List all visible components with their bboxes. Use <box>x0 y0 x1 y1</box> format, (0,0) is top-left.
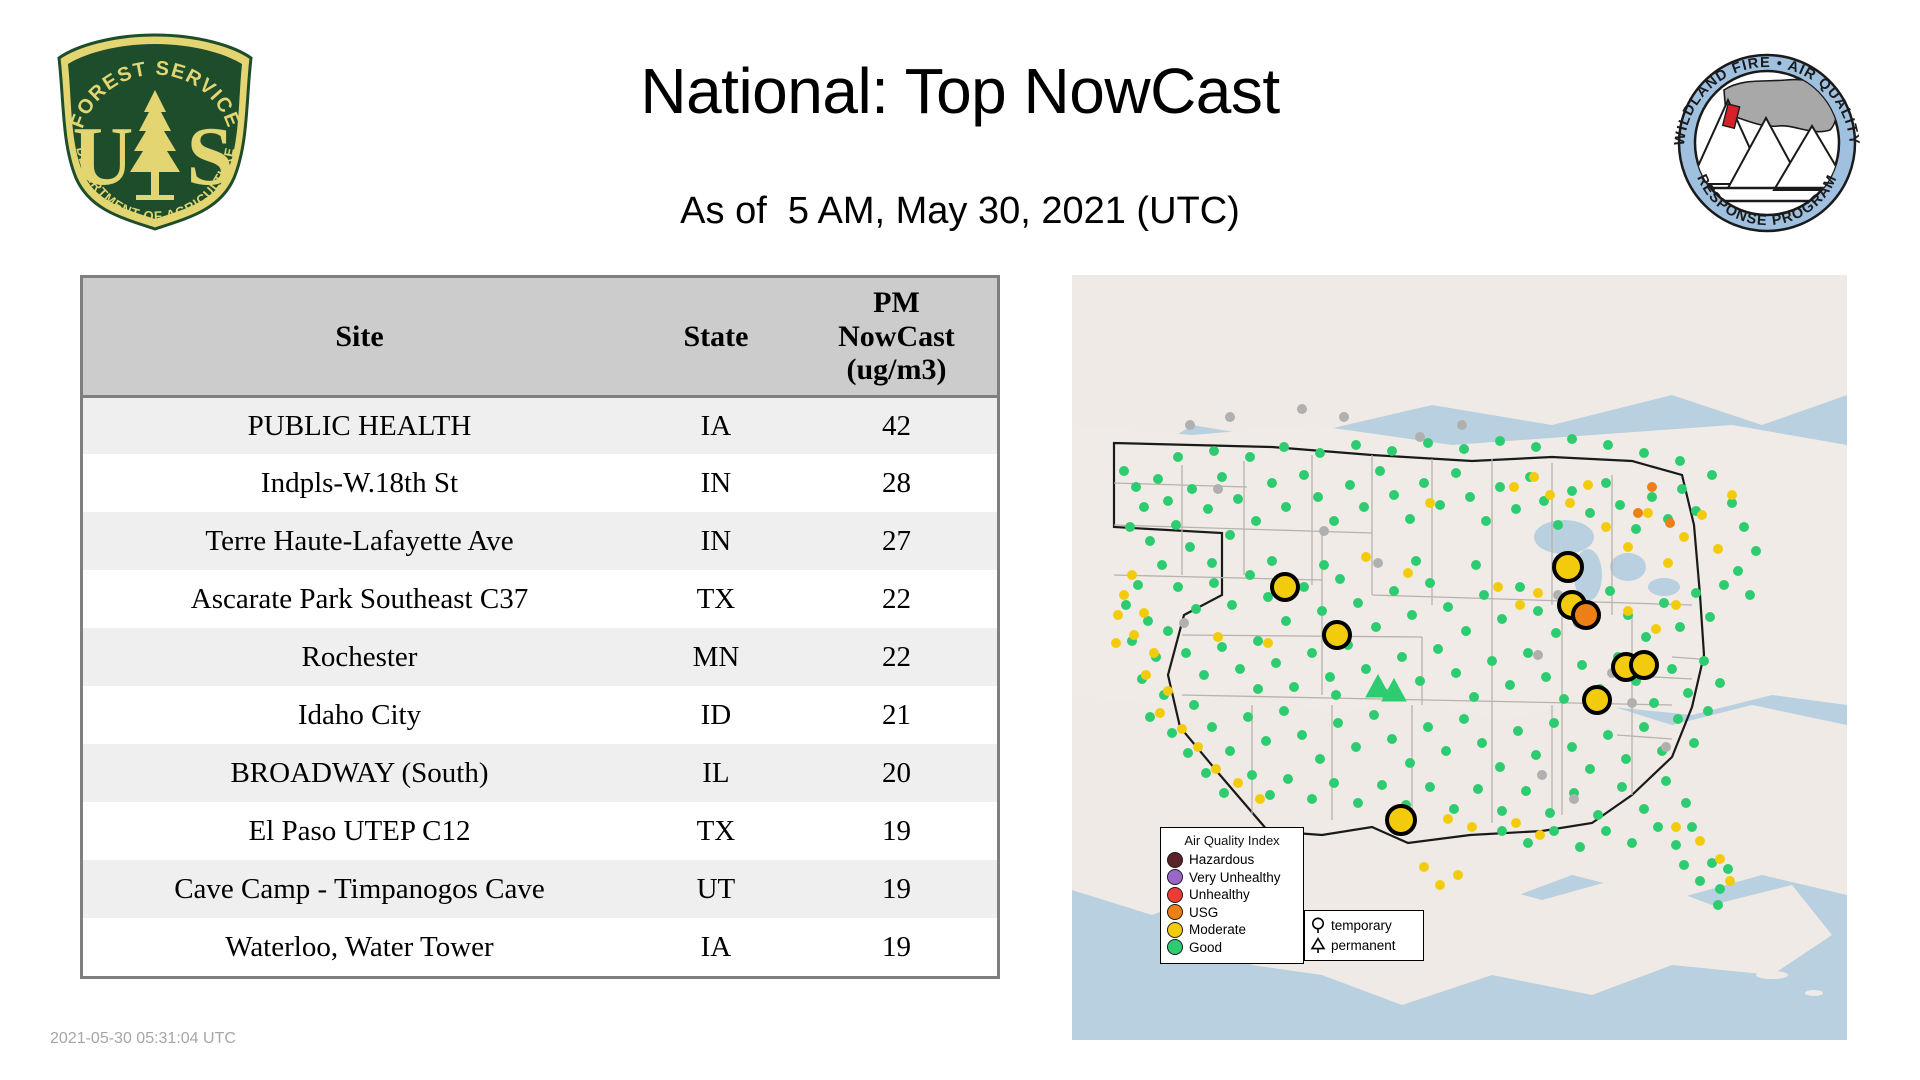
aqi-legend-label: Moderate <box>1189 923 1246 937</box>
symbol-legend-label-temporary: temporary <box>1331 918 1392 933</box>
top-site-marker-el-paso[interactable] <box>1387 806 1415 834</box>
table-row: BROADWAY (South)IL20 <box>83 744 997 802</box>
page-title: National: Top NowCast <box>420 54 1500 128</box>
aqi-swatch-icon <box>1167 852 1183 868</box>
site-cell: Cave Camp - Timpanogos Cave <box>83 860 636 918</box>
aqi-swatch-icon <box>1167 939 1183 955</box>
aqi-legend-rows: HazardousVery UnhealthyUnhealthyUSGModer… <box>1167 851 1297 956</box>
wfaqrp-logo: WILDLAND FIRE • AIR QUALITY RESPONSE PRO… <box>1662 38 1872 248</box>
aqi-legend-row-very-unhealthy: Very Unhealthy <box>1167 869 1297 887</box>
pm-nowcast-cell: 27 <box>796 512 997 570</box>
table-body: PUBLIC HEALTHIA42Indpls-W.18th StIN28Ter… <box>83 396 997 976</box>
pm-nowcast-cell: 19 <box>796 918 997 976</box>
site-cell: El Paso UTEP C12 <box>83 802 636 860</box>
site-cell: Indpls-W.18th St <box>83 454 636 512</box>
page-subtitle: As of 5 AM, May 30, 2021 (UTC) <box>420 190 1500 233</box>
aqi-legend-label: Good <box>1189 941 1222 955</box>
aqi-legend-row-unhealthy: Unhealthy <box>1167 886 1297 904</box>
pm-nowcast-cell: 20 <box>796 744 997 802</box>
state-cell: IN <box>636 512 796 570</box>
aqi-swatch-icon <box>1167 869 1183 885</box>
state-cell: IN <box>636 454 796 512</box>
symbol-legend-row-temporary: temporary <box>1310 915 1418 935</box>
column-header-site: Site <box>83 278 636 396</box>
site-cell: Waterloo, Water Tower <box>83 918 636 976</box>
pm-nowcast-cell: 28 <box>796 454 997 512</box>
site-cell: Ascarate Park Southeast C37 <box>83 570 636 628</box>
site-cell: Terre Haute-Lafayette Ave <box>83 512 636 570</box>
table-row: Ascarate Park Southeast C37TX22 <box>83 570 997 628</box>
aqi-legend-row-hazardous: Hazardous <box>1167 851 1297 869</box>
top-site-marker-cave-camp[interactable] <box>1324 622 1350 648</box>
shield-letter-u: U <box>73 110 134 203</box>
table-row: Idaho CityID21 <box>83 686 997 744</box>
pm-nowcast-cell: 19 <box>796 802 997 860</box>
table-row: Waterloo, Water TowerIA19 <box>83 918 997 976</box>
state-cell: IA <box>636 396 796 454</box>
symbol-legend: temporary permanent <box>1304 910 1424 961</box>
aqi-swatch-icon <box>1167 887 1183 903</box>
top-site-marker-idaho-city[interactable] <box>1272 574 1298 600</box>
state-cell: IL <box>636 744 796 802</box>
footer-timestamp: 2021-05-30 05:31:04 UTC <box>50 1030 236 1048</box>
aqi-legend-row-good: Good <box>1167 939 1297 957</box>
table-row: Cave Camp - Timpanogos CaveUT19 <box>83 860 997 918</box>
aqi-legend: Air Quality Index HazardousVery Unhealth… <box>1160 827 1304 964</box>
aqi-legend-title: Air Quality Index <box>1167 833 1297 848</box>
pm-nowcast-cell: 21 <box>796 686 997 744</box>
table-row: RochesterMN22 <box>83 628 997 686</box>
aqi-legend-label: Hazardous <box>1189 853 1254 867</box>
usfs-shield-logo: FOREST SERVICE DEPARTMENT OF AGRICULTURE… <box>48 32 263 232</box>
column-header-state: State <box>636 278 796 396</box>
site-cell: Idaho City <box>83 686 636 744</box>
state-cell: ID <box>636 686 796 744</box>
site-cell: BROADWAY (South) <box>83 744 636 802</box>
state-cell: TX <box>636 570 796 628</box>
site-cell: Rochester <box>83 628 636 686</box>
state-cell: MN <box>636 628 796 686</box>
state-cell: UT <box>636 860 796 918</box>
table-row: PUBLIC HEALTHIA42 <box>83 396 997 454</box>
state-cell: IA <box>636 918 796 976</box>
table-header-row: Site State PM NowCast (ug/m3) <box>83 278 997 396</box>
aqi-swatch-icon <box>1167 922 1183 938</box>
shield-letter-s: S <box>187 110 234 203</box>
temporary-circle-icon <box>1310 917 1326 934</box>
pm-nowcast-cell: 19 <box>796 860 997 918</box>
aqi-legend-label: Very Unhealthy <box>1189 871 1281 885</box>
table-row: Terre Haute-Lafayette AveIN27 <box>83 512 997 570</box>
aqi-legend-row-usg: USG <box>1167 904 1297 922</box>
permanent-triangle-icon <box>1310 937 1326 954</box>
table-row: El Paso UTEP C12TX19 <box>83 802 997 860</box>
column-header-pm-nowcast: PM NowCast (ug/m3) <box>796 278 997 396</box>
state-cell: TX <box>636 802 796 860</box>
site-cell: PUBLIC HEALTH <box>83 396 636 454</box>
lake-huron <box>1610 553 1646 581</box>
aqi-swatch-icon <box>1167 904 1183 920</box>
lake-erie <box>1648 578 1680 596</box>
aqi-legend-label: Unhealthy <box>1189 888 1250 902</box>
symbol-legend-label-permanent: permanent <box>1331 938 1396 953</box>
top-site-marker-public-health[interactable] <box>1573 602 1599 628</box>
pm-nowcast-cell: 42 <box>796 396 997 454</box>
symbol-legend-row-permanent: permanent <box>1310 935 1418 955</box>
pm-nowcast-cell: 22 <box>796 628 997 686</box>
top-site-marker-indianapolis[interactable] <box>1631 652 1657 678</box>
aqi-legend-row-moderate: Moderate <box>1167 921 1297 939</box>
top-site-marker-broadway-south[interactable] <box>1584 687 1610 713</box>
table-row: Indpls-W.18th StIN28 <box>83 454 997 512</box>
pm-nowcast-cell: 22 <box>796 570 997 628</box>
lake-superior <box>1534 520 1594 554</box>
us-aqi-map[interactable]: Air Quality Index HazardousVery Unhealth… <box>1072 275 1847 1040</box>
aqi-legend-label: USG <box>1189 906 1218 920</box>
top-nowcast-table: Site State PM NowCast (ug/m3) PUBLIC HEA… <box>80 275 1000 979</box>
top-site-marker-rochester[interactable] <box>1554 553 1582 581</box>
